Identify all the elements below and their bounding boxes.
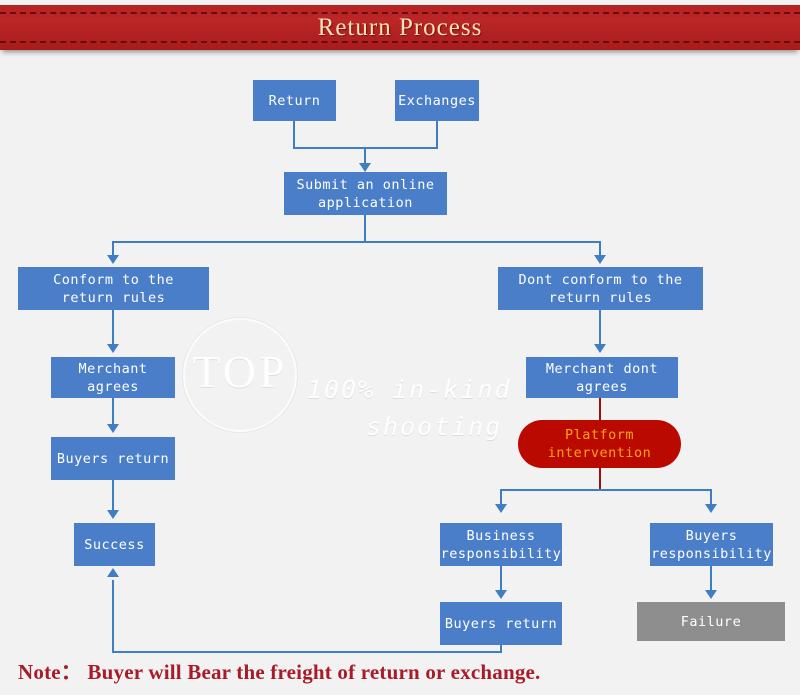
node-merchant-agrees[interactable]: Merchant agrees [51, 357, 175, 398]
arrow-to-buyers-responsibility [705, 504, 717, 513]
node-dont-conform-to-return-rules[interactable]: Dont conform to the return rules [498, 267, 703, 310]
arrow-loop-to-success [107, 568, 119, 577]
watermark-line-2: shooting [366, 412, 502, 441]
edge-split-horizontal [112, 241, 601, 243]
node-platform-intervention[interactable]: Platform intervention [518, 420, 681, 468]
arrow-to-merchant-dont-agrees [594, 344, 606, 353]
node-submit-online-application[interactable]: Submit an online application [284, 172, 447, 215]
node-return[interactable]: Return [253, 80, 336, 121]
edge-buyers-responsibility-down [710, 566, 712, 592]
node-buyers-return-left[interactable]: Buyers return [51, 437, 175, 480]
page-title: Return Process [0, 5, 800, 50]
node-failure[interactable]: Failure [637, 602, 785, 641]
edge-dont-conform-down [599, 310, 601, 346]
arrow-to-failure [705, 590, 717, 599]
node-merchant-dont-agrees[interactable]: Merchant dont agrees [526, 357, 678, 398]
edge-submit-down [364, 215, 366, 243]
arrow-to-buyers-return-right [495, 590, 507, 599]
edge-exchanges-down [436, 121, 438, 149]
arrow-to-merchant-agrees [107, 344, 119, 353]
footer-note: Note： Buyer will Bear the freight of ret… [18, 656, 541, 686]
watermark-ring-icon [183, 318, 297, 432]
edge-platform-split-horizontal [500, 489, 712, 491]
arrow-to-dont-conform [594, 255, 606, 264]
arrow-to-conform [107, 255, 119, 264]
header-banner: Return Process [0, 5, 800, 50]
edge-business-responsibility-down [500, 566, 502, 592]
edge-conform-down [112, 310, 114, 346]
node-conform-to-return-rules[interactable]: Conform to the return rules [18, 267, 209, 310]
arrow-to-business-responsibility [495, 504, 507, 513]
edge-loop-up [112, 580, 114, 651]
arrow-to-buyers-return-left [107, 424, 119, 433]
arrow-to-success [107, 510, 119, 519]
edge-loop-horizontal [112, 651, 502, 653]
node-buyers-return-right[interactable]: Buyers return [440, 602, 562, 645]
node-business-responsibility[interactable]: Business responsibility [440, 523, 562, 566]
arrow-to-submit [359, 163, 371, 172]
node-buyers-responsibility[interactable]: Buyers responsibility [650, 523, 773, 566]
watermark-brand: TOP [186, 345, 294, 398]
node-exchanges[interactable]: Exchanges [395, 80, 479, 121]
edge-merchant-agrees-down [112, 398, 114, 426]
watermark-line-1: 100% in-kind [307, 375, 512, 404]
flowchart-canvas: Return Process TOP 100% in-kind shooting… [0, 0, 800, 695]
edge-return-down [293, 121, 295, 149]
edge-buyers-return-left-down [112, 480, 114, 511]
node-success[interactable]: Success [74, 523, 155, 566]
